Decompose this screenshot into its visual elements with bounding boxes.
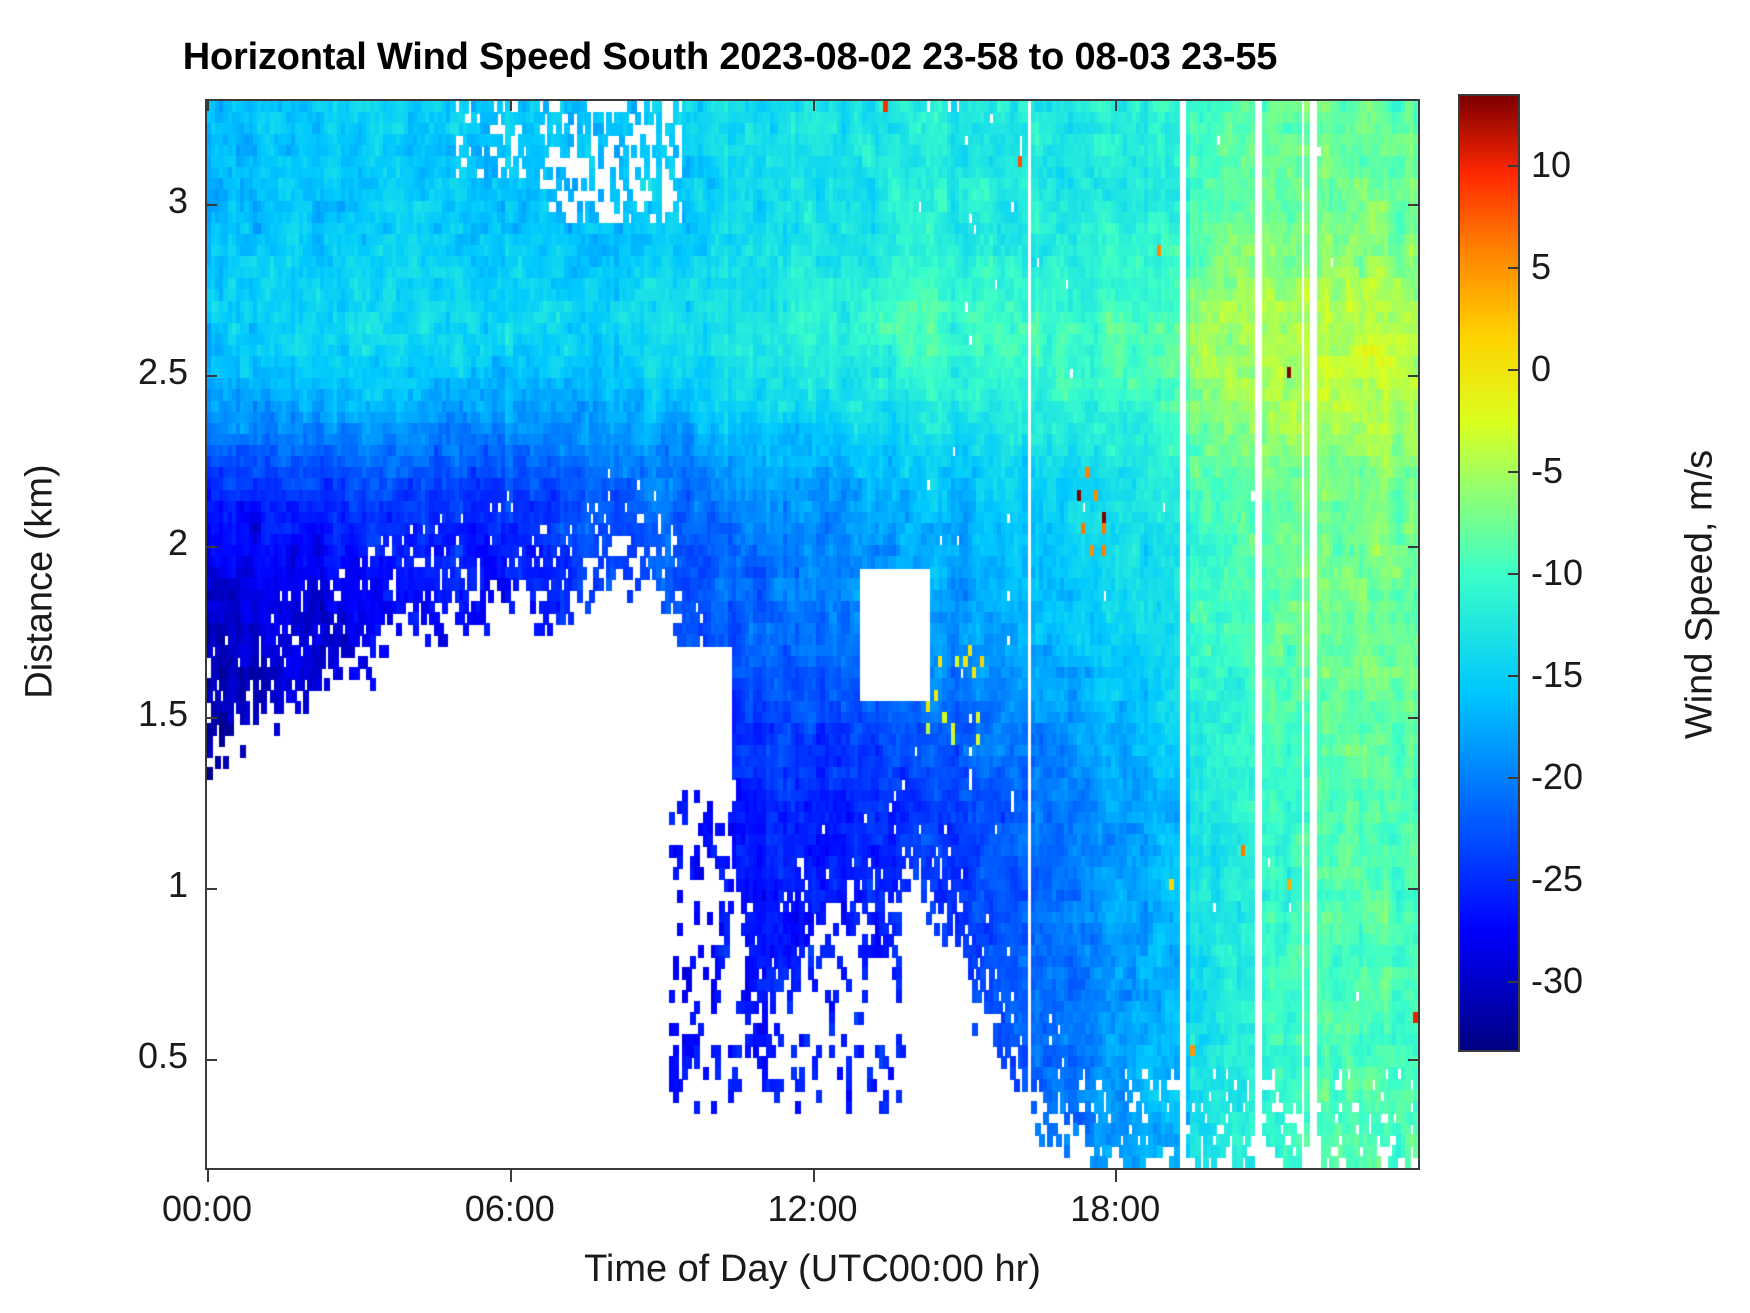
x-tick-mark-top: [207, 99, 209, 111]
colorbar-tick-label: -15: [1531, 654, 1583, 696]
wind-speed-heatmap: [207, 101, 1418, 1168]
colorbar-tick-mark: [1508, 675, 1520, 677]
colorbar-tick-mark: [1508, 573, 1520, 575]
x-tick-label: 12:00: [767, 1188, 857, 1230]
colorbar-tick-mark: [1508, 879, 1520, 881]
colorbar-tick-label: -10: [1531, 552, 1583, 594]
colorbar-tick-label: -5: [1531, 450, 1563, 492]
x-tick-label: 06:00: [465, 1188, 555, 1230]
y-tick-mark: [205, 204, 217, 206]
x-tick-mark: [510, 1170, 512, 1182]
y-tick-mark: [205, 888, 217, 890]
colorbar-tick-label: -30: [1531, 960, 1583, 1002]
x-tick-mark: [813, 1170, 815, 1182]
colorbar-tick-mark: [1508, 981, 1520, 983]
y-tick-label: 2: [168, 522, 188, 564]
x-tick-label: 18:00: [1070, 1188, 1160, 1230]
colorbar-tick-mark: [1508, 165, 1520, 167]
x-tick-mark-top: [510, 99, 512, 111]
x-tick-mark-top: [813, 99, 815, 111]
colorbar-tick-mark: [1508, 471, 1520, 473]
colorbar-tick-label: 10: [1531, 144, 1571, 186]
colorbar-tick-mark: [1508, 267, 1520, 269]
colorbar-tick-label: -25: [1531, 858, 1583, 900]
y-tick-label: 2.5: [138, 351, 188, 393]
colorbar-tick-label: -20: [1531, 756, 1583, 798]
y-axis-label: Distance (km): [19, 372, 62, 792]
heatmap-axes[interactable]: [205, 99, 1420, 1170]
colorbar-tick-label: 5: [1531, 246, 1551, 288]
y-tick-mark: [205, 1059, 217, 1061]
y-tick-mark-right: [1408, 888, 1420, 890]
colorbar-tick-mark: [1508, 777, 1520, 779]
y-tick-label: 3: [168, 180, 188, 222]
x-tick-mark: [1115, 1170, 1117, 1182]
y-tick-label: 1.5: [138, 693, 188, 735]
x-tick-mark: [207, 1170, 209, 1182]
x-tick-label: 00:00: [162, 1188, 252, 1230]
y-tick-mark: [205, 375, 217, 377]
colorbar-tick-label: 0: [1531, 348, 1551, 390]
colorbar-tick-mark: [1508, 369, 1520, 371]
y-tick-mark-right: [1408, 204, 1420, 206]
y-tick-mark-right: [1408, 717, 1420, 719]
x-axis-label: Time of Day (UTC00:00 hr): [205, 1248, 1420, 1291]
colorbar-label: Wind Speed, m/s: [1679, 385, 1722, 805]
page-title: Horizontal Wind Speed South 2023-08-02 2…: [0, 36, 1460, 79]
y-tick-mark: [205, 546, 217, 548]
figure-canvas: Horizontal Wind Speed South 2023-08-02 2…: [0, 0, 1750, 1313]
y-tick-mark-right: [1408, 1059, 1420, 1061]
y-tick-mark-right: [1408, 546, 1420, 548]
y-tick-mark-right: [1408, 375, 1420, 377]
y-tick-label: 0.5: [138, 1035, 188, 1077]
x-tick-mark-top: [1115, 99, 1117, 111]
y-tick-mark: [205, 717, 217, 719]
y-tick-label: 1: [168, 864, 188, 906]
